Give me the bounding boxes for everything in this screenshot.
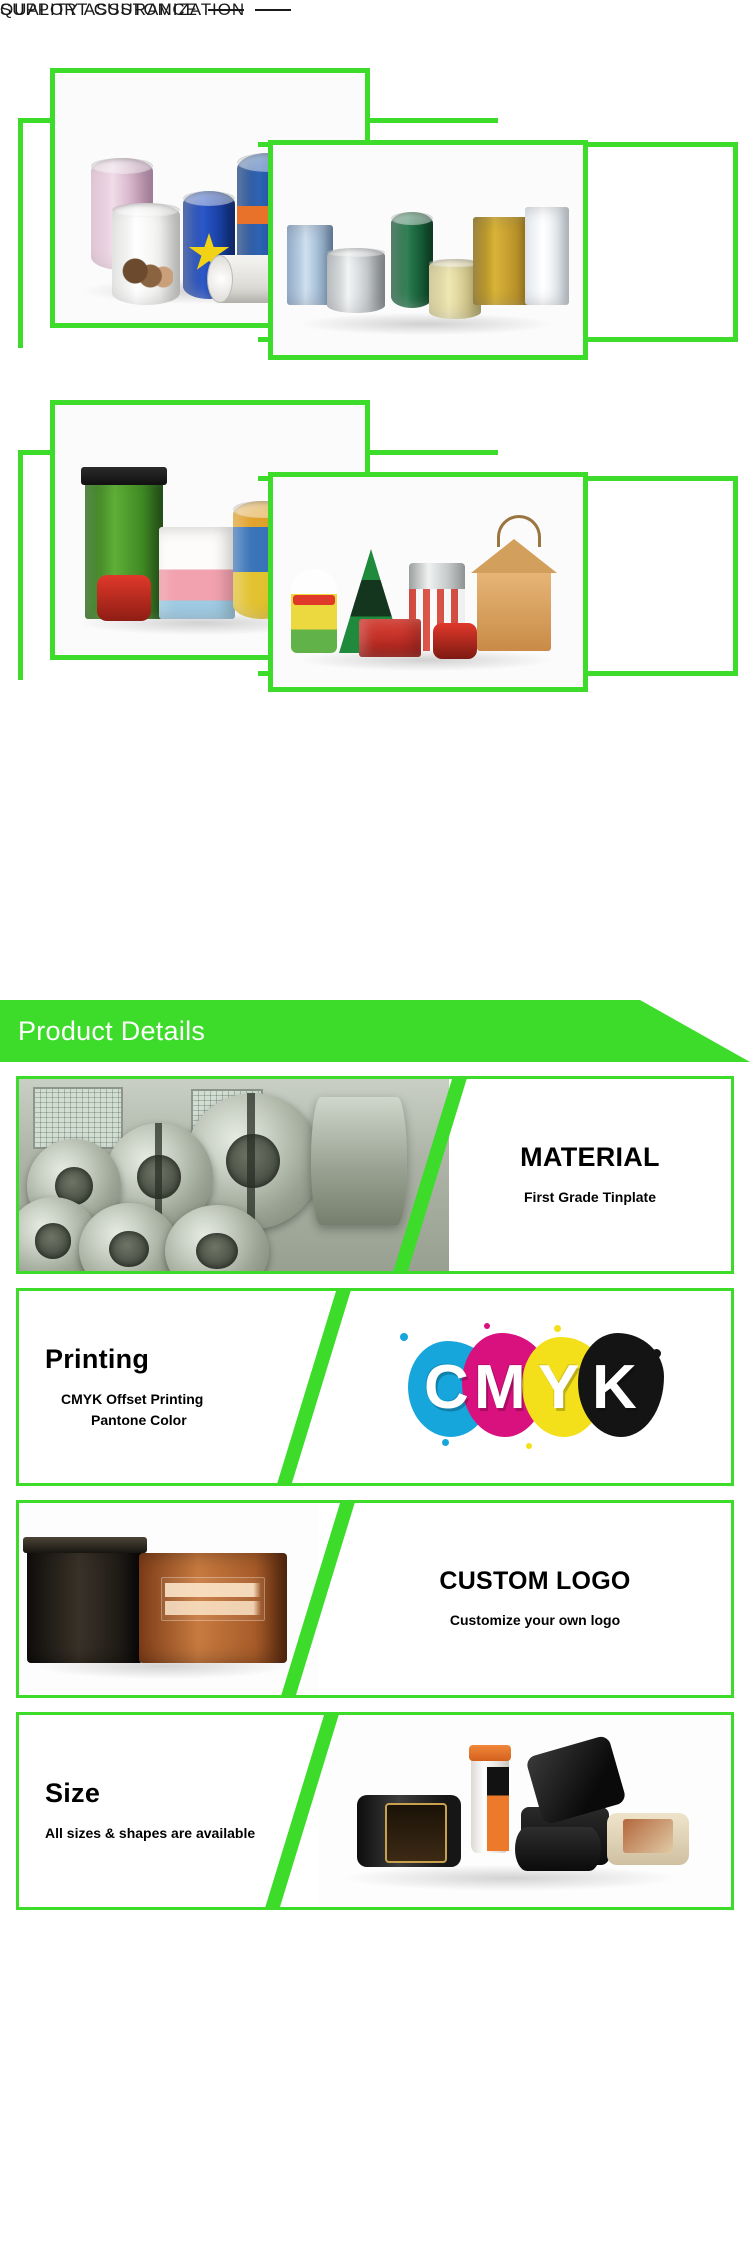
cream-tin-artwork bbox=[623, 1819, 673, 1853]
gallery-section: SUPPORT CUSTOMIZATION bbox=[0, 0, 750, 1000]
material-text-block: MATERIAL First Grade Tinplate bbox=[449, 1079, 731, 1271]
custom-logo-text-block: CUSTOM LOGO Customize your own logo bbox=[339, 1503, 731, 1695]
floor-shadow bbox=[345, 1865, 675, 1891]
tin-orange-graphic bbox=[487, 1767, 509, 1851]
detail-card-custom-logo[interactable]: CUSTOM LOGO Customize your own logo bbox=[16, 1500, 734, 1698]
product-details-title: Product Details bbox=[0, 1000, 205, 1062]
detail-card-material[interactable]: MATERIAL First Grade Tinplate bbox=[16, 1076, 734, 1274]
tin-dog-artwork bbox=[119, 241, 173, 291]
tin-black-embossed-box bbox=[27, 1545, 143, 1663]
orange-cap-icon bbox=[469, 1745, 511, 1761]
caption-quality-text: QUALITY ASSURANCE bbox=[0, 0, 198, 20]
coils-scene bbox=[19, 1079, 449, 1271]
sir-thomas-lipton-embossed-tins-photo bbox=[19, 1503, 319, 1695]
plain-printed-tins-scene bbox=[273, 145, 583, 355]
splash-droplet bbox=[652, 1349, 661, 1358]
size-subtitle: All sizes & shapes are available bbox=[45, 1823, 255, 1844]
christmas-tin-set-scene bbox=[273, 477, 583, 687]
assorted-tins-scene bbox=[319, 1715, 731, 1907]
tin-red-heart-small bbox=[433, 623, 477, 659]
custom-logo-subtitle: Customize your own logo bbox=[450, 1610, 620, 1631]
tin-black-open-lid bbox=[525, 1735, 627, 1826]
tin-house bbox=[477, 567, 551, 651]
printing-subtitle-line1: CMYK Offset Printing bbox=[45, 1389, 203, 1410]
size-title: Size bbox=[45, 1778, 100, 1809]
snowman-scarf-icon bbox=[293, 595, 335, 605]
caption-quality-assurance: QUALITY ASSURANCE bbox=[0, 0, 244, 20]
house-handle-icon bbox=[497, 515, 541, 547]
letter-k: K bbox=[592, 1357, 637, 1419]
tin-green-cylinder bbox=[391, 212, 433, 308]
printing-text-block: Printing CMYK Offset Printing Pantone Co… bbox=[19, 1291, 309, 1483]
product-listing-page: SUPPORT CUSTOMIZATION bbox=[0, 0, 750, 1950]
tinplate-steel-coils-photo bbox=[19, 1079, 449, 1271]
cmyk-paint-splash-graphic: C M Y K bbox=[331, 1291, 731, 1483]
letter-y: Y bbox=[538, 1357, 579, 1419]
product-details-section: Product Details bbox=[0, 1000, 750, 1950]
cmyk-letters-group: C M Y K bbox=[406, 1327, 656, 1447]
splash-droplet bbox=[526, 1443, 532, 1449]
tin-label-artwork bbox=[385, 1803, 447, 1863]
tin-black-lid bbox=[23, 1537, 147, 1553]
floor-shadow bbox=[301, 649, 551, 671]
caption-rule bbox=[208, 9, 244, 11]
floor-shadow bbox=[301, 313, 551, 335]
gallery-photo-christmas-tin-set[interactable] bbox=[273, 477, 583, 687]
material-subtitle: First Grade Tinplate bbox=[524, 1187, 656, 1208]
tin-floral-rectangular bbox=[159, 527, 235, 619]
custom-logo-title: CUSTOM LOGO bbox=[439, 1567, 630, 1596]
gallery-photo-plain-printed-tins[interactable] bbox=[273, 145, 583, 355]
cmyk-scene: C M Y K bbox=[331, 1291, 731, 1483]
coil-strap bbox=[247, 1093, 255, 1229]
splash-droplet bbox=[442, 1439, 449, 1446]
size-text-block: Size All sizes & shapes are available bbox=[19, 1715, 299, 1907]
tin-red-gift-box bbox=[359, 619, 421, 657]
letter-m: M bbox=[474, 1357, 526, 1419]
tin-snowman bbox=[291, 569, 337, 653]
tin-white-printed-square bbox=[525, 207, 569, 305]
tin-cat-lid bbox=[207, 255, 233, 303]
detail-card-size[interactable]: Size All sizes & shapes are available bbox=[16, 1712, 734, 1910]
assorted-size-tins-photo bbox=[319, 1715, 731, 1907]
tin-red-heart bbox=[97, 575, 151, 621]
material-title: MATERIAL bbox=[520, 1142, 660, 1173]
splash-droplet bbox=[400, 1333, 408, 1341]
splash-droplet bbox=[484, 1323, 490, 1329]
printing-title: Printing bbox=[45, 1344, 149, 1375]
lipton-logo-text bbox=[165, 1583, 261, 1615]
coil-body-cylinder bbox=[311, 1097, 407, 1225]
letter-c: C bbox=[424, 1357, 469, 1419]
lipton-tins-scene bbox=[19, 1503, 319, 1695]
product-details-banner: Product Details bbox=[0, 1000, 750, 1062]
caption-rule bbox=[255, 9, 291, 11]
detail-card-printing[interactable]: Printing CMYK Offset Printing Pantone Co… bbox=[16, 1288, 734, 1486]
printing-subtitle-line2: Pantone Color bbox=[45, 1410, 187, 1431]
splash-droplet bbox=[554, 1325, 561, 1332]
tin-silver-cylinder bbox=[327, 248, 385, 313]
tin-green-lid bbox=[81, 467, 167, 485]
tin-round-flat bbox=[515, 1827, 601, 1871]
